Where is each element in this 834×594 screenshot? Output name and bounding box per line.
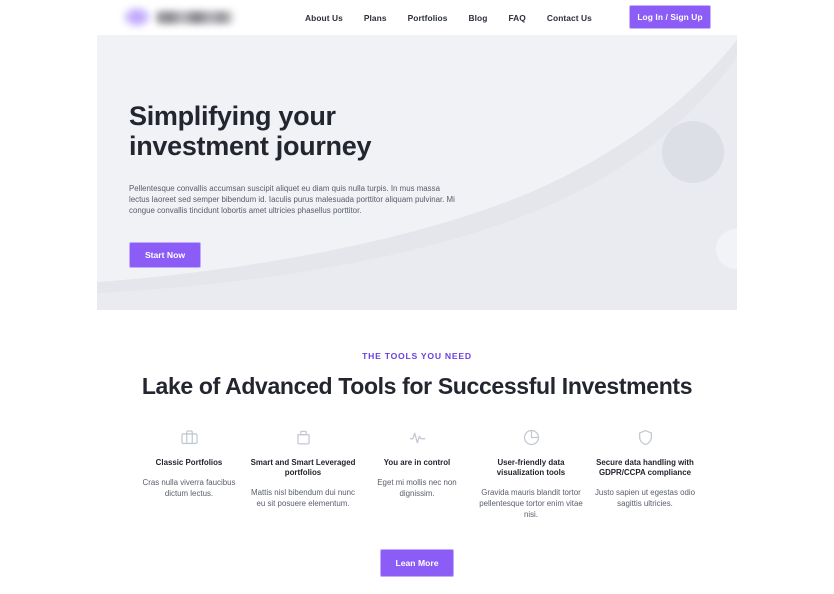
tools-section: THE TOOLS YOU NEED Lake of Advanced Tool…	[0, 310, 834, 577]
start-now-button[interactable]: Start Now	[129, 242, 201, 268]
hero-title: Simplifying your investment journey	[129, 101, 529, 161]
nav-link-about-us[interactable]: About Us	[305, 13, 343, 23]
brand-logo[interactable]	[122, 3, 238, 31]
feature-description: Eget mi mollis nec non dignissim.	[360, 477, 474, 499]
feature-title: Classic Portfolios	[153, 458, 226, 468]
feature-description: Gravida mauris blandit tortor pellentesq…	[474, 487, 588, 520]
feature-card-you-are-in-control: You are in control Eget mi mollis nec no…	[360, 426, 474, 520]
login-signup-button[interactable]: Log In / Sign Up	[629, 5, 711, 29]
nav-link-blog[interactable]: Blog	[469, 13, 488, 23]
nav-link-faq[interactable]: FAQ	[508, 13, 525, 23]
feature-card-smart-leveraged-portfolios: Smart and Smart Leveraged portfolios Mat…	[246, 426, 360, 520]
feature-card-data-visualization: User-friendly data visualization tools G…	[474, 426, 588, 520]
feature-description: Justo sapien ut egestas odio sagittis ul…	[588, 487, 702, 509]
top-navigation-bar: About Us Plans Portfolios Blog FAQ Conta…	[0, 0, 834, 35]
feature-title: You are in control	[381, 458, 454, 468]
hero-content: Simplifying your investment journey Pell…	[129, 35, 529, 268]
hero-section: Simplifying your investment journey Pell…	[97, 35, 737, 310]
feature-title: Smart and Smart Leveraged portfolios	[246, 458, 360, 478]
shield-icon	[636, 426, 655, 448]
activity-pulse-icon	[408, 426, 427, 448]
section-eyebrow: THE TOOLS YOU NEED	[0, 351, 834, 361]
pie-chart-icon	[522, 426, 541, 448]
hero-title-line-1: Simplifying your	[129, 101, 529, 131]
feature-description: Mattis nisl bibendum dui nunc eu sit pos…	[246, 487, 360, 509]
bag-icon	[294, 426, 313, 448]
brand-logo-wordmark-redacted	[156, 11, 234, 24]
nav-links: About Us Plans Portfolios Blog FAQ Conta…	[305, 0, 592, 35]
section-title: Lake of Advanced Tools for Successful In…	[0, 373, 834, 400]
feature-title: User-friendly data visualization tools	[474, 458, 588, 478]
feature-card-classic-portfolios: Classic Portfolios Cras nulla viverra fa…	[132, 426, 246, 520]
nav-link-portfolios[interactable]: Portfolios	[408, 13, 448, 23]
hero-title-line-2: investment journey	[129, 131, 529, 161]
briefcase-icon	[180, 426, 199, 448]
feature-description: Cras nulla viverra faucibus dictum lectu…	[132, 477, 246, 499]
learn-more-button[interactable]: Lean More	[380, 549, 454, 577]
landing-page: About Us Plans Portfolios Blog FAQ Conta…	[0, 0, 834, 594]
hero-circle-gray	[662, 121, 724, 183]
feature-card-secure-data-handling: Secure data handling with GDPR/CCPA comp…	[588, 426, 702, 520]
brand-logo-mark-icon	[122, 6, 152, 28]
hero-description: Pellentesque convallis accumsan suscipit…	[129, 183, 462, 217]
feature-title: Secure data handling with GDPR/CCPA comp…	[588, 458, 702, 478]
nav-link-contact-us[interactable]: Contact Us	[547, 13, 592, 23]
nav-link-plans[interactable]: Plans	[364, 13, 387, 23]
features-row: Classic Portfolios Cras nulla viverra fa…	[0, 426, 834, 520]
